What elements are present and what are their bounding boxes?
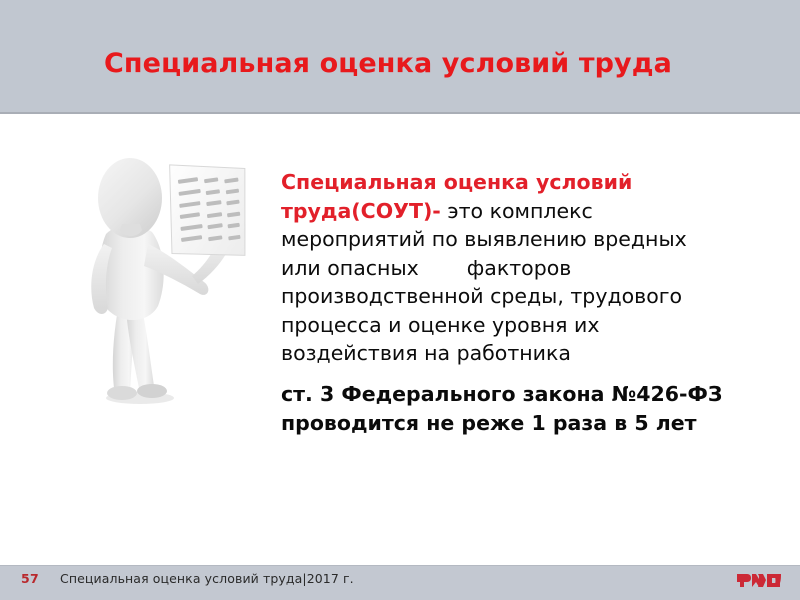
figure-right-foot	[137, 384, 167, 398]
definition-line5: процесса и оценке уровня их	[281, 313, 599, 337]
footer-page-number: 57	[21, 571, 39, 586]
document-sheet	[160, 155, 257, 266]
definition-line1: это комплекс	[441, 199, 593, 223]
definition-text-block: Специальная оценка условий труда(СОУТ)- …	[281, 168, 756, 368]
page-title: Специальная оценка условий труда	[104, 47, 764, 81]
definition-line3b: факторов	[467, 256, 572, 280]
definition-line3a: или опасных	[281, 256, 419, 280]
slide-canvas: Специальная оценка условий труда	[0, 0, 800, 600]
definition-line6: воздействия на работника	[281, 341, 571, 365]
definition-line2: мероприятий по выявлению вредных	[281, 227, 687, 251]
definition-line4: производственной среды, трудового	[281, 284, 682, 308]
definition-paragraph: Специальная оценка условий труда(СОУТ)- …	[281, 168, 756, 368]
law-reference-paragraph: ст. 3 Федерального закона №426-ФЗ провод…	[281, 380, 771, 438]
rzd-logo	[736, 570, 782, 590]
person-holding-document-illustration	[78, 148, 278, 410]
figure-left-foot	[107, 386, 137, 400]
footer-caption: Специальная оценка условий труда|2017 г.	[60, 571, 354, 586]
figure-torso	[100, 225, 164, 320]
